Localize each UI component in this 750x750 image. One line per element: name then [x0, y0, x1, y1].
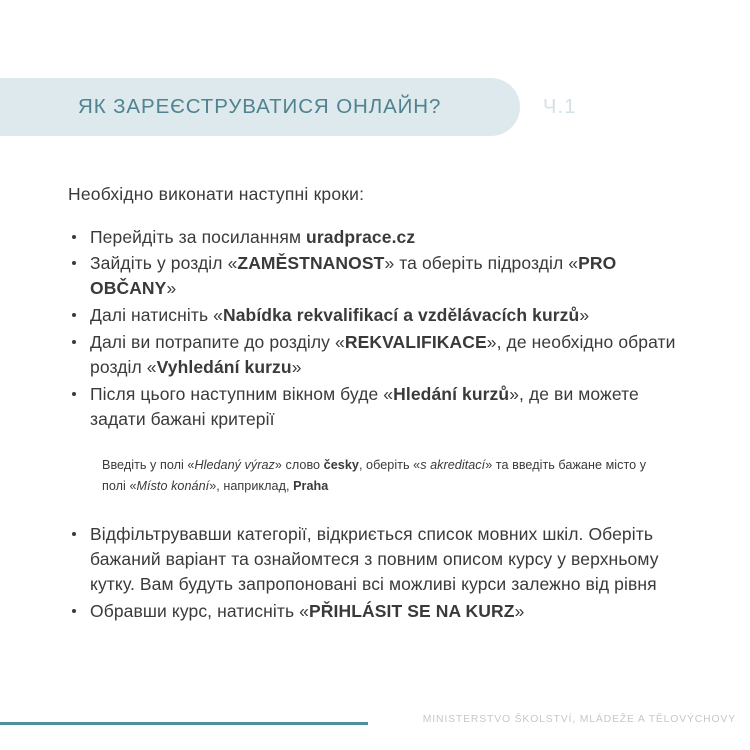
text-segment: Далі ви потрапите до розділу «: [90, 332, 345, 352]
text-segment: Nabídka rekvalifikací a vzdělávacích kur…: [223, 305, 579, 325]
steps-list-bottom: Відфільтрувавши категорії, відкриється с…: [68, 522, 688, 623]
text-segment: », наприклад,: [209, 479, 293, 493]
text-segment: »: [166, 278, 176, 298]
text-segment: Vyhledání kurzu: [157, 357, 292, 377]
text-segment: Hledání kurzů: [393, 384, 509, 404]
steps-list-top: Перейдіть за посиланням uradprace.czЗайд…: [68, 225, 688, 432]
list-item: Перейдіть за посиланням uradprace.cz: [68, 225, 688, 250]
footer-divider: [0, 722, 368, 725]
text-segment: Hledaný výraz: [194, 458, 274, 472]
text-segment: , оберіть «: [359, 458, 420, 472]
list-item: Далі натисніть «Nabídka rekvalifikací a …: [68, 303, 688, 328]
text-segment: Відфільтрувавши категорії, відкриється с…: [90, 524, 659, 594]
text-segment: » та оберіть підрозділ «: [384, 253, 578, 273]
footer-organization: MINISTERSTVO ŠKOLSTVÍ, MLÁDEŽE A TĚLOVÝC…: [423, 714, 736, 725]
list-item: Відфільтрувавши категорії, відкриється с…: [68, 522, 688, 597]
part-label: Ч.1: [543, 78, 577, 136]
text-segment: ZAMĚSTNANOST: [237, 253, 384, 273]
text-segment: Обравши курс, натисніть «: [90, 601, 309, 621]
text-segment: Перейдіть за посиланням: [90, 227, 306, 247]
text-segment: REKVALIFIKACE: [345, 332, 487, 352]
text-segment: česky: [324, 458, 359, 472]
text-segment: uradprace.cz: [306, 227, 415, 247]
intro-text: Необхідно виконати наступні кроки:: [68, 183, 688, 207]
text-segment: »: [292, 357, 302, 377]
list-item: Далі ви потрапите до розділу «REKVALIFIK…: [68, 330, 688, 380]
note-paragraph: Введіть у полі «Hledaný výraz» слово čes…: [102, 455, 662, 496]
text-segment: s akreditací: [420, 458, 485, 472]
text-segment: Далі натисніть «: [90, 305, 223, 325]
list-item: Обравши курс, натисніть «PŘIHLÁSIT SE NA…: [68, 599, 688, 624]
text-segment: »: [579, 305, 589, 325]
list-item: Зайдіть у розділ «ZAMĚSTNANOST» та обері…: [68, 251, 688, 301]
text-segment: Зайдіть у розділ «: [90, 253, 237, 273]
page-title: ЯК ЗАРЕЄСТРУВАТИСЯ ОНЛАЙН?: [78, 78, 441, 136]
list-item: Після цього наступним вікном буде «Hledá…: [68, 382, 688, 432]
text-segment: Praha: [293, 479, 328, 493]
slide-content: Необхідно виконати наступні кроки: Перей…: [68, 183, 688, 626]
text-segment: Místo konání: [137, 479, 210, 493]
text-segment: Після цього наступним вікном буде «: [90, 384, 393, 404]
text-segment: Введіть у полі «: [102, 458, 194, 472]
text-segment: »: [515, 601, 525, 621]
text-segment: PŘIHLÁSIT SE NA KURZ: [309, 601, 515, 621]
text-segment: » слово: [275, 458, 324, 472]
